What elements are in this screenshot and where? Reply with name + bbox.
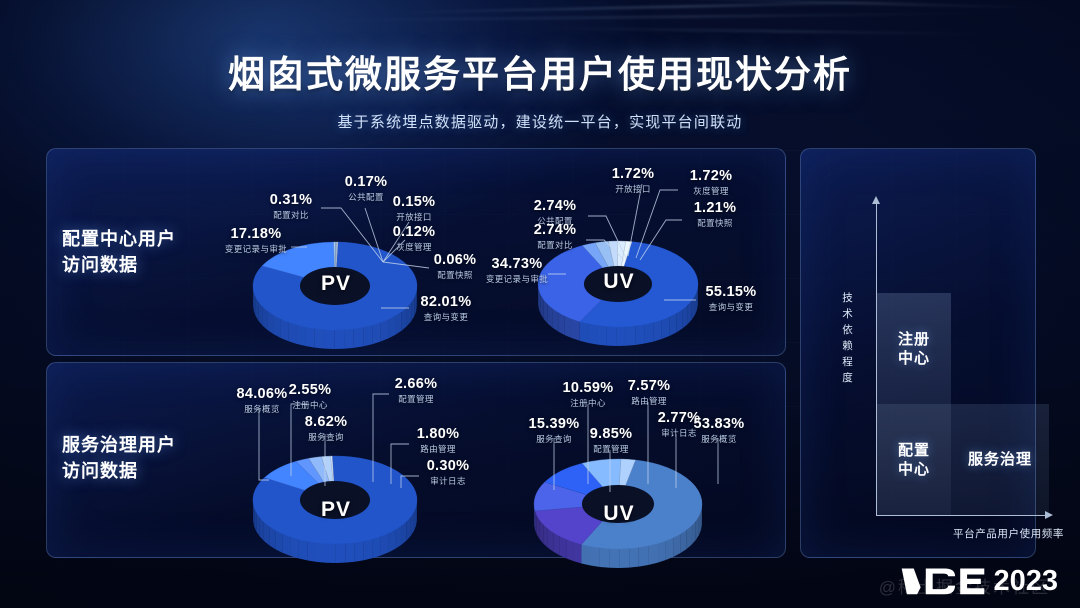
slice-label: 7.57% 路由管理 bbox=[614, 378, 684, 407]
row-label-line2: 访问数据 bbox=[62, 252, 176, 278]
quadrant-box-line1: 配置 bbox=[898, 441, 930, 460]
donut-chart-config-uv: UV 1.72% 开放接口 1.72% 灰度管理 1.21% 配置快照 2.74… bbox=[500, 162, 800, 352]
slice-label: 34.73% 变更记录与审批 bbox=[478, 256, 556, 285]
donut-graphic bbox=[524, 451, 712, 580]
page-title: 烟囱式微服务平台用户使用现状分析 bbox=[0, 44, 1080, 98]
quadrant-diagram: 技术依赖程度 平台产品用户使用频率 注册 中心 配置 中心 服务治理 bbox=[832, 196, 1028, 536]
slice-label: 8.62% 服务查询 bbox=[293, 414, 359, 443]
donut-graphic bbox=[243, 448, 427, 575]
slice-label: 1.80% 路由管理 bbox=[405, 426, 471, 455]
row-label-line2: 访问数据 bbox=[62, 458, 176, 484]
slice-label: 0.12% 灰度管理 bbox=[381, 224, 447, 253]
slice-label: 1.72% 灰度管理 bbox=[678, 168, 744, 197]
slice-label: 2.55% 注册中心 bbox=[277, 382, 343, 411]
y-axis-arrow-icon bbox=[872, 196, 880, 204]
page-subtitle: 基于系统埋点数据驱动，建设统一平台，实现平台间联动 bbox=[0, 111, 1080, 132]
quadrant-box-line1: 注册 bbox=[898, 330, 930, 349]
slice-label: 53.83% 服务概览 bbox=[682, 416, 756, 445]
donut-graphic bbox=[528, 233, 708, 358]
donut-chart-service-pv: PV 84.06% 服务概览 2.55% 注册中心 8.62% 服务查询 2.6… bbox=[233, 372, 533, 558]
x-axis-line bbox=[876, 515, 1048, 516]
slice-label: 55.15% 查询与变更 bbox=[696, 284, 766, 313]
slice-label: 17.18% 变更记录与审批 bbox=[219, 226, 293, 255]
row-label-line1: 配置中心用户 bbox=[62, 226, 176, 252]
slice-label: 0.30% 审计日志 bbox=[415, 458, 481, 487]
row-label-service-governance: 服务治理用户 访问数据 bbox=[62, 432, 176, 484]
slice-label: 0.31% 配置对比 bbox=[259, 192, 323, 221]
header: 烟囱式微服务平台用户使用现状分析 基于系统埋点数据驱动，建设统一平台，实现平台间… bbox=[0, 44, 1080, 132]
row-label-config-center: 配置中心用户 访问数据 bbox=[62, 226, 176, 278]
quadrant-box-config-center: 配置 中心 bbox=[877, 404, 951, 515]
row-label-line1: 服务治理用户 bbox=[62, 432, 176, 458]
quadrant-box-line1: 服务治理 bbox=[968, 450, 1032, 469]
quadrant-box-line2: 中心 bbox=[898, 460, 930, 479]
quadrant-box-line2: 中心 bbox=[898, 349, 930, 368]
slice-label: 2.74% 配置对比 bbox=[522, 222, 588, 251]
quadrant-box-register-center: 注册 中心 bbox=[877, 293, 951, 404]
quadrant-box-service-governance: 服务治理 bbox=[951, 404, 1049, 515]
watermark: @稀土掘金技术社区 bbox=[879, 573, 1050, 598]
slice-label: 0.15% 开放接口 bbox=[381, 194, 447, 223]
slice-label: 2.66% 配置管理 bbox=[383, 376, 449, 405]
slice-label: 82.01% 查询与变更 bbox=[409, 294, 483, 323]
donut-chart-service-uv: UV 15.39% 服务查询 10.59% 注册中心 9.85% 配置管理 7.… bbox=[500, 372, 800, 558]
slice-label: 1.72% 开放接口 bbox=[600, 166, 666, 195]
x-axis-label: 平台产品用户使用频率 bbox=[894, 526, 1064, 541]
slice-label: 9.85% 配置管理 bbox=[576, 426, 646, 455]
y-axis-label: 技术依赖程度 bbox=[840, 290, 856, 386]
slice-label: 1.21% 配置快照 bbox=[682, 200, 748, 229]
